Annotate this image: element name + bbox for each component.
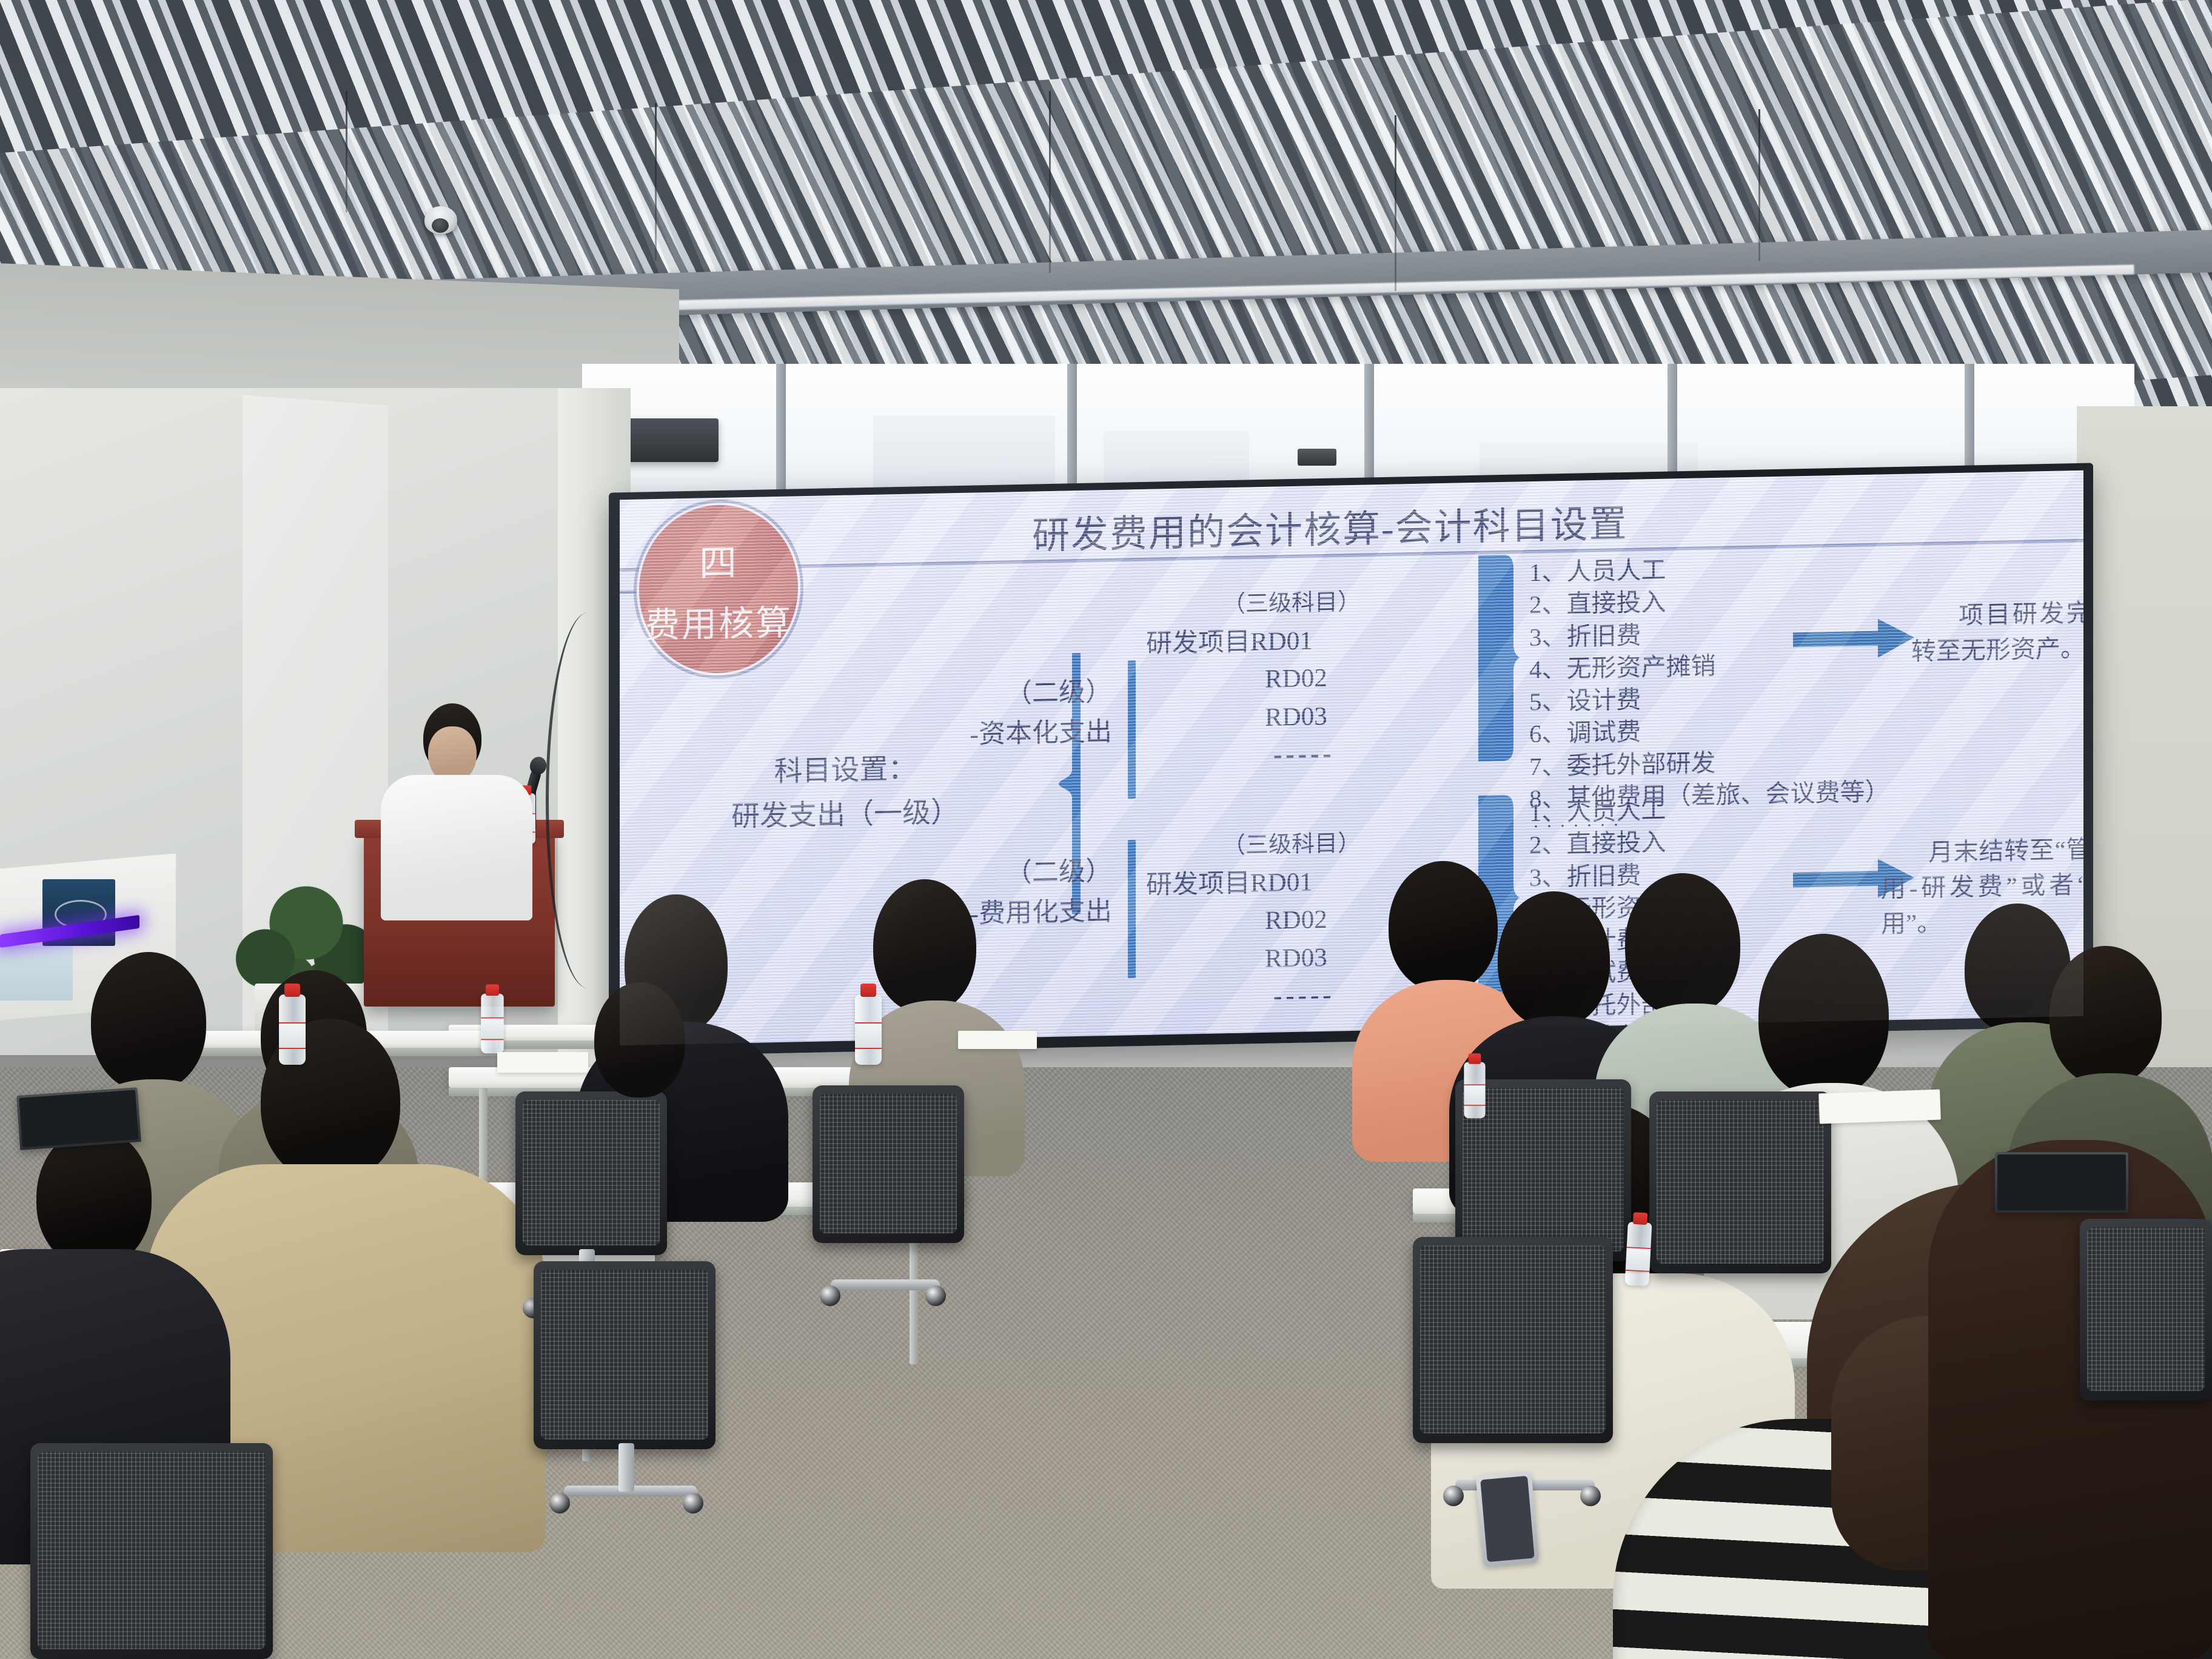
presenter-shirt — [381, 775, 532, 920]
flow-arrow-1-icon — [1793, 618, 1914, 659]
office-chair — [534, 1261, 716, 1449]
chair-post — [618, 1443, 634, 1492]
office-chair — [30, 1443, 273, 1659]
tick-branch-2 — [1128, 840, 1136, 978]
ceiling-speaker — [1298, 449, 1336, 466]
level2-name-1: -资本化支出 — [851, 712, 1112, 757]
person-head — [91, 952, 206, 1091]
ceiling-wire — [346, 91, 347, 212]
level1-name: 研发支出（一级） — [675, 789, 1015, 840]
level3-ellipsis-1: ----- — [1146, 733, 1437, 777]
ceiling-wire — [655, 103, 657, 261]
person-head — [594, 982, 685, 1098]
level3-item-1-1: RD03 — [1146, 695, 1437, 739]
person-head — [1625, 873, 1740, 1016]
conclusion-capitalized: 项目研发完成后结转至无形资产。 — [1911, 594, 2083, 669]
chair-caster — [1443, 1486, 1464, 1506]
paper-sheet — [497, 1052, 588, 1073]
person-head — [873, 879, 976, 1013]
water-bottle — [481, 994, 503, 1054]
ceiling-wire — [1049, 91, 1051, 273]
chair-caster — [820, 1285, 840, 1306]
level3-item-1-0: RD02 — [1146, 658, 1437, 702]
level2-tag-1: （二级） — [851, 672, 1112, 717]
chair-base — [831, 1279, 940, 1290]
ceiling-wire — [1758, 109, 1760, 261]
person-head — [36, 1128, 152, 1267]
office-chair — [1649, 1091, 1831, 1273]
conclusion-text-1: 项目研发完成后结转至无形资产。 — [1911, 594, 2083, 669]
wall-sign — [0, 946, 73, 1000]
person-head — [1758, 934, 1889, 1098]
laptop[interactable] — [16, 1087, 141, 1150]
office-chair — [1413, 1237, 1613, 1443]
smartphone[interactable] — [1476, 1471, 1540, 1566]
water-bottle — [1624, 1222, 1652, 1286]
paper-sheet — [958, 1031, 1037, 1049]
exterior-building — [873, 416, 1055, 495]
chair-caster — [925, 1285, 946, 1306]
level2-capitalized: （二级） -资本化支出 — [851, 672, 1112, 757]
power-cable — [546, 612, 631, 988]
tick-branch-1 — [1128, 660, 1136, 799]
dome-camera-icon — [424, 206, 457, 234]
section-badge-number: 四 — [699, 532, 738, 587]
ceiling — [0, 0, 2212, 424]
chair-caster — [683, 1493, 703, 1513]
level3-header-1: （三级科目） — [1146, 584, 1437, 623]
level2-tag-2: （二级） — [851, 851, 1112, 897]
water-bottle — [1464, 1062, 1485, 1119]
person-head — [1389, 861, 1498, 991]
level3-first-1: 研发项目RD01 — [1146, 620, 1437, 663]
brace-branch-1 — [1476, 554, 1520, 761]
water-bottle — [279, 994, 306, 1065]
chair-caster — [1580, 1486, 1601, 1506]
person-head — [2049, 946, 2162, 1085]
water-bottle — [855, 994, 882, 1065]
ceiling-wire — [1395, 115, 1396, 291]
section-badge: 四 费用核算 — [637, 501, 800, 677]
person-head — [1498, 891, 1610, 1028]
level1-account: 科目设置： 研发支出（一级） — [675, 745, 1015, 840]
laptop[interactable] — [1995, 1152, 2128, 1213]
section-badge-label: 费用核算 — [645, 594, 793, 648]
office-chair — [813, 1085, 964, 1243]
level3-header-2: （三级科目） — [1146, 825, 1437, 865]
office-chair — [515, 1091, 667, 1255]
training-room-photo: 研发费用的会计核算-会计科目设置 四 费用核算 科目设置： 研发支出（一级） （… — [0, 0, 2212, 1659]
level3-capitalized: （三级科目） 研发项目RD01 RD02 RD03 ----- — [1146, 584, 1437, 777]
paper-sheet — [1818, 1090, 1941, 1124]
chair-caster — [549, 1493, 570, 1513]
office-chair — [2080, 1219, 2212, 1401]
